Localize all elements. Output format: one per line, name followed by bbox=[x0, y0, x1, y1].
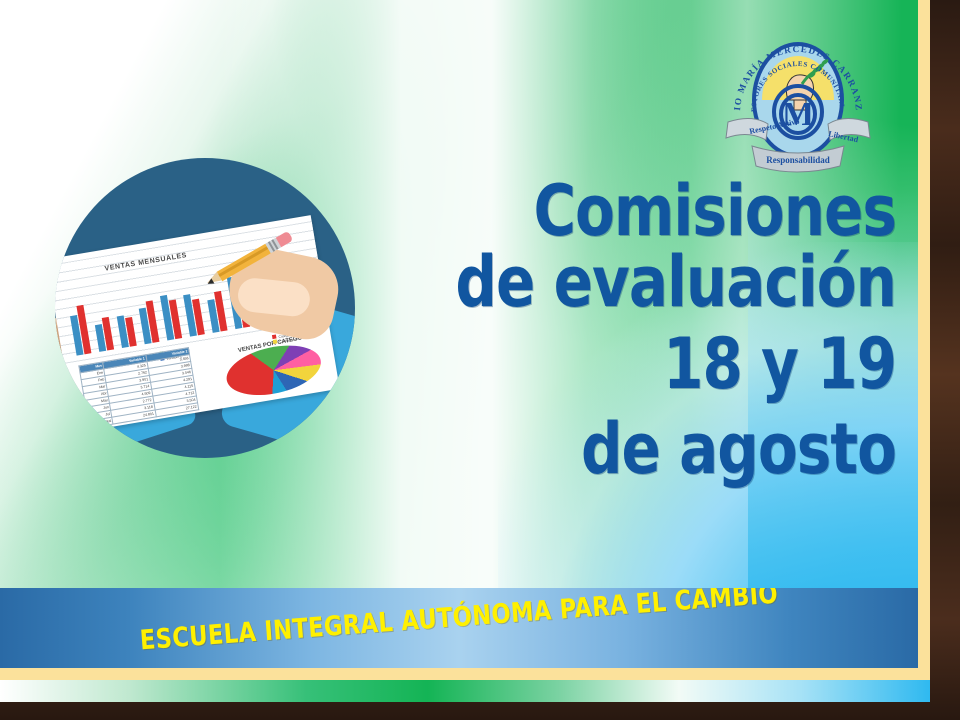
school-crest-logo: M COLEGIO MARÍA MERCEDES CARRANZA I.E.D … bbox=[722, 22, 874, 182]
title-line-3: 18 y 19 bbox=[375, 329, 896, 400]
title-line-2: de evaluación bbox=[375, 247, 896, 318]
slide-title: Comisiones de evaluación 18 y 19 de agos… bbox=[330, 176, 896, 486]
report-illustration: VENTAS MENSUALES Variable 1 Variable 2 bbox=[55, 158, 355, 458]
slide-canvas: VENTAS MENSUALES Variable 1 Variable 2 bbox=[0, 0, 960, 720]
title-line-4: de agosto bbox=[375, 414, 896, 485]
bottom-yellow-trim bbox=[0, 668, 930, 680]
bottom-green-trim bbox=[0, 680, 930, 702]
title-line-1: Comisiones bbox=[375, 176, 896, 247]
slide-content: VENTAS MENSUALES Variable 1 Variable 2 bbox=[0, 0, 918, 672]
crest-ribbon-bottom: Responsabilidad bbox=[766, 155, 830, 165]
footer-banner-text: ESCUELA INTEGRAL AUTÓNOMA PARA EL CAMBIO bbox=[32, 588, 886, 664]
right-yellow-trim bbox=[918, 0, 930, 680]
footer-banner: ESCUELA INTEGRAL AUTÓNOMA PARA EL CAMBIO bbox=[0, 588, 918, 668]
